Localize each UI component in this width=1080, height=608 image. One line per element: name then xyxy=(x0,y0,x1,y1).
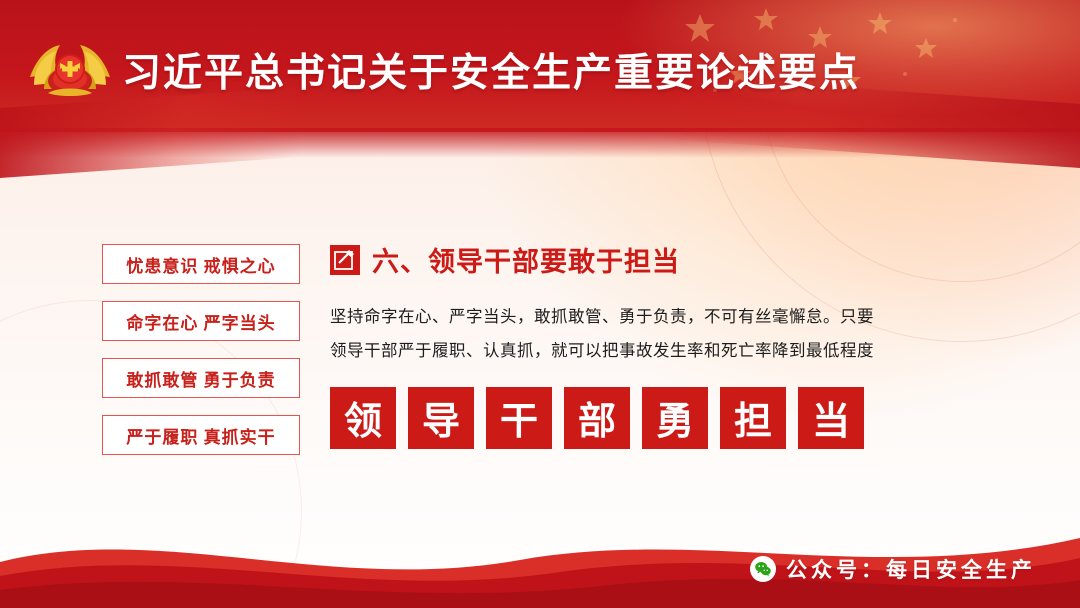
main-content: 六、领导干部要敢于担当 坚持命字在心、严字当头，敢抓敢管、勇于负责，不可有丝毫懈… xyxy=(330,240,990,449)
section-heading: 六、领导干部要敢于担当 xyxy=(330,240,990,279)
page-title: 习近平总书记关于安全生产重要论述要点 xyxy=(122,42,860,98)
big-word-row: 领 导 干 部 勇 担 当 xyxy=(330,387,990,449)
slide-header: 习近平总书记关于安全生产重要论述要点 xyxy=(24,34,860,106)
keyword-chip[interactable]: 严于履职 真抓实干 xyxy=(102,415,300,455)
checkbox-pen-icon xyxy=(330,245,360,275)
party-emblem-icon xyxy=(24,37,116,103)
big-word-tile: 导 xyxy=(408,387,474,449)
big-word-tile: 勇 xyxy=(642,387,708,449)
keyword-chip[interactable]: 命字在心 严字当头 xyxy=(102,301,300,341)
bottom-wave-decoration xyxy=(0,498,1080,608)
footer-watermark-text: 公众号：每日安全生产 xyxy=(786,554,1036,584)
big-word-tile: 部 xyxy=(564,387,630,449)
big-word-tile: 当 xyxy=(798,387,864,449)
big-word-tile: 担 xyxy=(720,387,786,449)
big-word-tile: 干 xyxy=(486,387,552,449)
slide-canvas: 习近平总书记关于安全生产重要论述要点 忧患意识 戒惧之心 命字在心 严字当头 敢… xyxy=(0,0,1080,608)
section-paragraph: 坚持命字在心、严字当头，敢抓敢管、勇于负责，不可有丝毫懈怠。只要 xyxy=(330,301,990,335)
keyword-chip[interactable]: 忧患意识 戒惧之心 xyxy=(102,244,300,284)
keyword-chip-list: 忧患意识 戒惧之心 命字在心 严字当头 敢抓敢管 勇于负责 严于履职 真抓实干 xyxy=(102,244,300,455)
section-title: 六、领导干部要敢于担当 xyxy=(372,240,680,279)
footer-watermark: 公众号：每日安全生产 xyxy=(750,554,1036,584)
keyword-chip[interactable]: 敢抓敢管 勇于负责 xyxy=(102,358,300,398)
section-paragraph: 领导干部严于履职、认真抓，就可以把事故发生率和死亡率降到最低程度 xyxy=(330,335,990,369)
wechat-icon xyxy=(750,556,776,582)
big-word-tile: 领 xyxy=(330,387,396,449)
